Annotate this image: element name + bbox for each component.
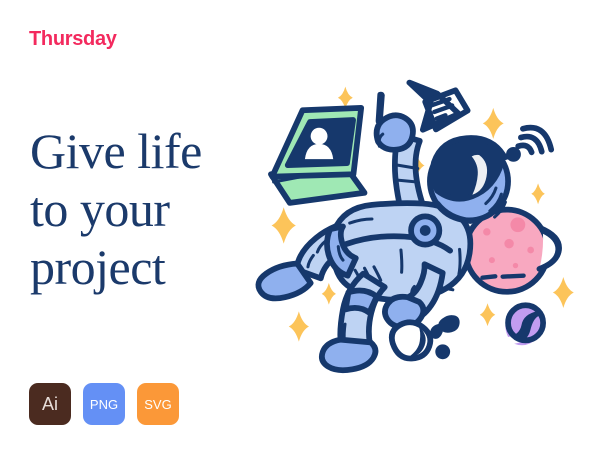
sparkle-icon	[553, 277, 574, 308]
headline-line-1: Give life	[30, 122, 260, 180]
sparkle-icon	[531, 183, 544, 204]
laptop-icon	[271, 108, 365, 203]
page-title: Give life to your project	[30, 122, 260, 296]
coffee-cup-icon	[392, 322, 431, 359]
headline-line-2: to your	[30, 180, 260, 238]
sparkle-icon	[483, 108, 504, 139]
droplets	[430, 315, 460, 359]
badge-png[interactable]: PNG	[83, 383, 125, 425]
astronaut-illustration-svg: .ol { fill:none; stroke:#16386c; stroke-…	[250, 58, 595, 403]
text-column: Thursday Give life to your project Ai PN…	[0, 0, 262, 453]
eyebrow-label: Thursday	[29, 29, 117, 49]
astronaut-illustration: .ol { fill:none; stroke:#16386c; stroke-…	[250, 58, 595, 403]
format-badge-group: Ai PNG SVG	[29, 383, 179, 425]
poster-canvas: Thursday Give life to your project Ai PN…	[0, 0, 600, 453]
document-icon	[409, 83, 467, 130]
headline-line-3: project	[30, 238, 260, 296]
sparkle-icon	[480, 303, 495, 326]
badge-ai[interactable]: Ai	[29, 383, 71, 425]
planet-purple	[505, 305, 543, 345]
sparkle-icon	[272, 207, 296, 243]
astronaut-helmet	[430, 128, 551, 221]
sparkle-icon	[289, 311, 309, 341]
badge-svg[interactable]: SVG	[137, 383, 179, 425]
sparkle-icon	[322, 283, 336, 305]
astronaut-right-leg	[322, 274, 385, 371]
planet-pink	[466, 210, 559, 292]
